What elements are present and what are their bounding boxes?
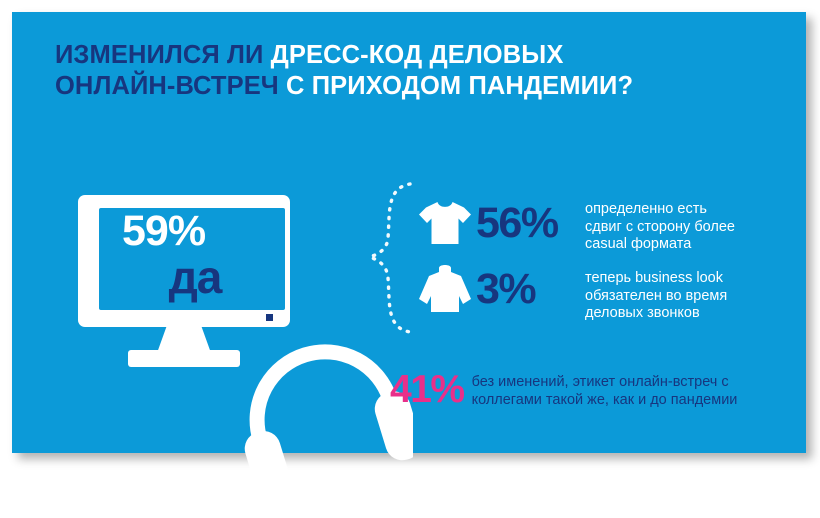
bottom-callout: 41% без именений, этикет онлайн-встреч с…: [390, 369, 772, 411]
page-title-line1-accent: ИЗМЕНИЛСЯ ЛИ: [55, 41, 271, 69]
monitor-stand-neck: [157, 326, 211, 353]
bottom-percent-value: 41%: [390, 369, 464, 411]
infographic-panel: ИЗМЕНИЛСЯ ЛИ ДРЕСС-КОД ДЕЛОВЫХОНЛАЙН-ВСТ…: [12, 12, 806, 453]
stat-description: определенно есть сдвиг с сторону более c…: [585, 201, 770, 254]
shirt-long-sleeve-icon: [416, 260, 474, 318]
page-title: ИЗМЕНИЛСЯ ЛИ ДРЕСС-КОД ДЕЛОВЫХОНЛАЙН-ВСТ…: [55, 40, 695, 102]
monitor-percent-label: да: [100, 253, 290, 301]
tshirt-short-sleeve-icon: [416, 194, 474, 252]
stat-percent-value: 56%: [476, 201, 558, 245]
stat-row: 56%: [416, 194, 558, 252]
monitor-stand-base: [128, 350, 240, 367]
monitor-power-led-icon: [266, 314, 273, 321]
dashed-curly-brace-decoration: [364, 180, 420, 336]
infographic-root: ИЗМЕНИЛСЯ ЛИ ДРЕСС-КОД ДЕЛОВЫХОНЛАЙН-ВСТ…: [0, 0, 820, 465]
page-title-line2: С ПРИХОДОМ ПАНДЕМИИ?: [286, 72, 633, 100]
page-title-line2-accent: ОНЛАЙН-ВСТРЕЧ: [55, 72, 286, 100]
monitor-stat-group: 59% да: [70, 195, 315, 375]
headphones-icon: [238, 328, 413, 518]
monitor-percent-value: 59%: [100, 208, 290, 254]
stat-percent-value: 3%: [476, 267, 535, 311]
bottom-description: без именений, этикет онлайн-встреч с кол…: [472, 374, 772, 409]
stat-description: теперь business look обязателен во время…: [585, 270, 770, 323]
stat-row: 3%: [416, 260, 535, 318]
page-title-line1: ДРЕСС-КОД ДЕЛОВЫХ: [271, 41, 564, 69]
